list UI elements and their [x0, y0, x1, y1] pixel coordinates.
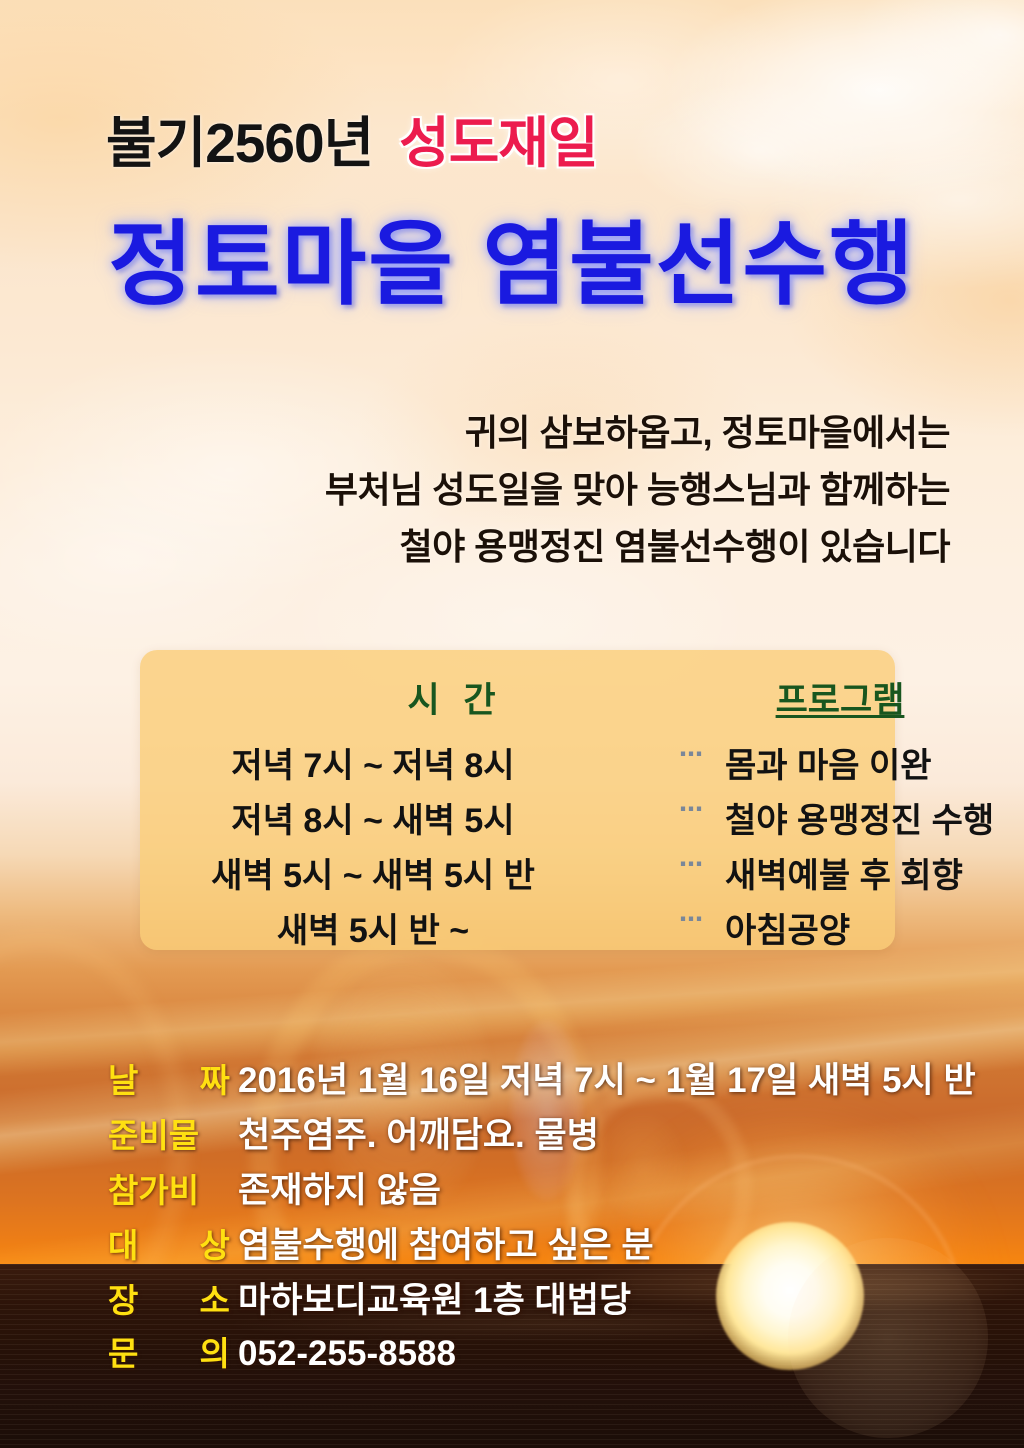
intro-line-1: 귀의 삼보하옵고, 정토마을에서는: [0, 404, 950, 461]
detail-label-audience: 대 상: [108, 1219, 226, 1267]
list-item: 문 의052-255-8588: [108, 1327, 988, 1382]
schedule-panel: 시 간 프로그램 저녁 7시 ~ 저녁 8시 ⋯ 몸과 마음 이완 저녁 8시 …: [140, 650, 895, 950]
schedule-table: 시 간 프로그램 저녁 7시 ~ 저녁 8시 ⋯ 몸과 마음 이완 저녁 8시 …: [140, 650, 895, 950]
schedule-separator: ⋯: [665, 738, 719, 772]
list-item: 준비물천주염주. 어깨담요. 물병: [108, 1107, 988, 1162]
schedule-separator: ⋯: [665, 903, 719, 937]
list-item: 날 짜2016년 1월 16일 저녁 7시 ~ 1월 17일 새벽 5시 반: [108, 1052, 988, 1107]
kicker-heading: 불기2560년성도재일: [106, 116, 598, 171]
schedule-time: 새벽 5시 ~ 새벽 5시 반: [168, 848, 578, 897]
schedule-program: 새벽예불 후 회향: [725, 848, 1024, 897]
detail-value-date: 2016년 1월 16일 저녁 7시 ~ 1월 17일 새벽 5시 반: [238, 1052, 976, 1103]
schedule-time: 저녁 8시 ~ 새벽 5시: [168, 793, 578, 842]
detail-value-items: 천주염주. 어깨담요. 물병: [238, 1107, 599, 1158]
detail-label-date: 날 짜: [108, 1054, 226, 1102]
page-title: 정토마을 염불선수행: [0, 214, 1024, 317]
event-details-list: 날 짜2016년 1월 16일 저녁 7시 ~ 1월 17일 새벽 5시 반 준…: [108, 1052, 988, 1382]
detail-label-venue: 장 소: [108, 1274, 226, 1322]
schedule-header-program: 프로그램: [705, 672, 975, 723]
list-item: 장 소마하보디교육원 1층 대법당: [108, 1272, 988, 1327]
list-item: 대 상염불수행에 참여하고 싶은 분: [108, 1217, 988, 1272]
schedule-separator: ⋯: [665, 793, 719, 827]
poster-content: 불기2560년성도재일 정토마을 염불선수행 귀의 삼보하옵고, 정토마을에서는…: [0, 0, 1024, 1448]
schedule-separator: ⋯: [665, 848, 719, 882]
schedule-program: 철야 용맹정진 수행: [725, 793, 1024, 842]
schedule-header-time: 시 간: [325, 672, 585, 723]
intro-line-3: 철야 용맹정진 염불선수행이 있습니다: [0, 518, 950, 575]
table-row: 새벽 5시 반 ~ ⋯ 아침공양: [140, 903, 895, 955]
list-item: 참가비존재하지 않음: [108, 1162, 988, 1217]
kicker-occasion-text: 성도재일: [399, 112, 597, 174]
schedule-time: 새벽 5시 반 ~: [168, 903, 578, 952]
detail-value-venue: 마하보디교육원 1층 대법당: [238, 1272, 631, 1323]
detail-label-fee: 참가비: [108, 1164, 226, 1212]
detail-value-fee: 존재하지 않음: [238, 1162, 441, 1213]
detail-value-audience: 염불수행에 참여하고 싶은 분: [238, 1217, 654, 1268]
table-row: 저녁 8시 ~ 새벽 5시 ⋯ 철야 용맹정진 수행: [140, 793, 895, 845]
detail-label-items: 준비물: [108, 1109, 226, 1157]
intro-line-2: 부처님 성도일을 맞아 능행스님과 함께하는: [0, 461, 950, 518]
schedule-time: 저녁 7시 ~ 저녁 8시: [168, 738, 578, 787]
poster: 불기2560년성도재일 정토마을 염불선수행 귀의 삼보하옵고, 정토마을에서는…: [0, 0, 1024, 1448]
kicker-year-text: 불기2560년: [106, 112, 373, 174]
schedule-header-row: 시 간 프로그램: [140, 672, 895, 720]
table-row: 저녁 7시 ~ 저녁 8시 ⋯ 몸과 마음 이완: [140, 738, 895, 790]
detail-label-contact: 문 의: [108, 1327, 226, 1375]
intro-paragraph: 귀의 삼보하옵고, 정토마을에서는 부처님 성도일을 맞아 능행스님과 함께하는…: [0, 404, 950, 575]
detail-value-contact: 052-255-8588: [238, 1334, 456, 1374]
schedule-program: 몸과 마음 이완: [725, 738, 1024, 787]
schedule-program: 아침공양: [725, 903, 1024, 952]
table-row: 새벽 5시 ~ 새벽 5시 반 ⋯ 새벽예불 후 회향: [140, 848, 895, 900]
